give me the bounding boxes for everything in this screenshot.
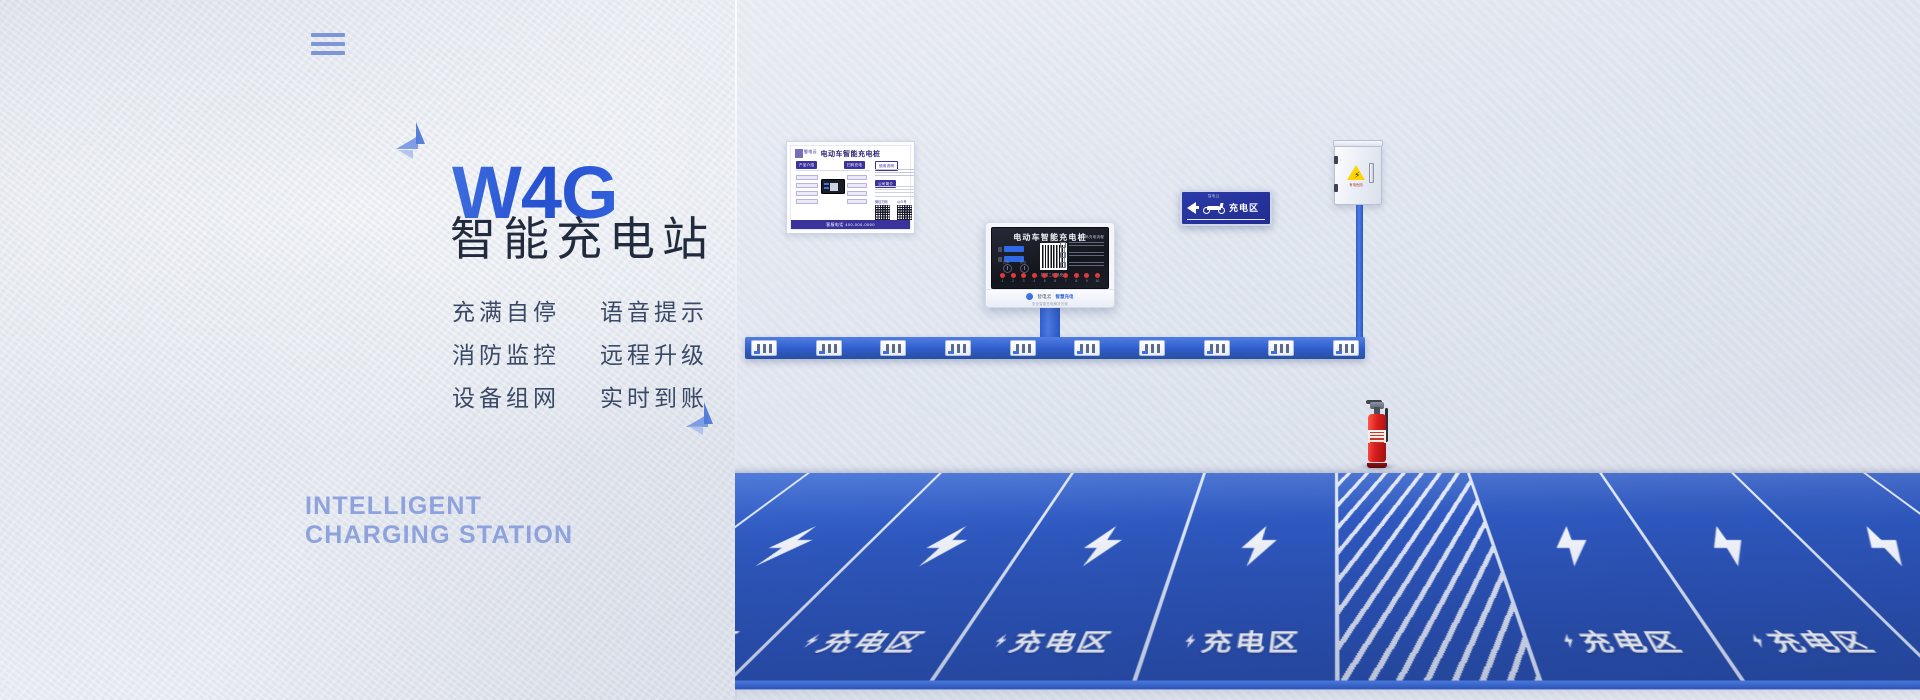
port-number: 3: [1021, 279, 1026, 283]
cabinet-hinge: [1334, 184, 1338, 192]
english-line-1: INTELLIGENT: [305, 492, 573, 521]
feature-row: 消防监控 远程升级: [452, 336, 708, 370]
port-indicator[interactable]: 4: [1032, 273, 1037, 283]
charging-pile-tagline: 安全智能充电解决方案: [986, 301, 1114, 306]
wall-socket[interactable]: [816, 340, 842, 356]
lightning-bolt-icon: [735, 526, 837, 566]
english-tagline: INTELLIGENT CHARGING STATION: [305, 492, 573, 550]
sign-underline: [1187, 219, 1265, 221]
feature-item: 消防监控: [452, 336, 600, 370]
lightning-bolt-icon: [1686, 526, 1775, 566]
wall-socket[interactable]: [1074, 340, 1100, 356]
cabinet-hinge: [1334, 156, 1338, 164]
lightning-bolt-icon: [898, 526, 987, 566]
poster-inner: 智电云 电动车智能充电桩 产品介绍 扫码充电 使用说明 公司简介 微信扫码 公众…: [790, 145, 911, 230]
port-indicator[interactable]: 5: [1042, 273, 1047, 283]
charging-pile-info-list: [1060, 242, 1104, 272]
feature-item: 语音提示: [600, 293, 708, 327]
charging-pile[interactable]: 电动车智能充电桩 扫描二维码充电 急停 复位 扫码充电流程 1 2: [985, 222, 1115, 308]
charging-pile-brand: 智电云 智慧充电: [986, 293, 1114, 300]
wall-socket-rail: [745, 337, 1365, 359]
charging-pile-info-header: 扫码充电流程: [1081, 235, 1104, 240]
parking-bay-label: 充电区: [1179, 625, 1302, 658]
cabinet-top: [1333, 140, 1383, 147]
poster-tag: 产品介绍: [796, 161, 817, 169]
port-number: 9: [1084, 279, 1089, 283]
extinguisher-label: [1368, 430, 1386, 443]
charging-pile-knobs[interactable]: [1003, 264, 1029, 273]
knob-label: 复位: [1020, 260, 1026, 264]
poster-flowchart-left: [796, 175, 818, 207]
charging-pile-base: 智电云 智慧充电 安全智能充电解决方案: [986, 289, 1114, 307]
port-number: 6: [1053, 279, 1058, 283]
port-number: 4: [1032, 279, 1037, 283]
port-indicator[interactable]: 6: [1053, 273, 1058, 283]
knob-label: 急停: [1003, 260, 1009, 264]
parking-bay-label: 充电区: [984, 625, 1118, 658]
cabinet-handle[interactable]: [1369, 163, 1374, 183]
port-number: 7: [1063, 279, 1068, 283]
page-subtitle: 智能充电站: [450, 212, 715, 267]
parking-bay-label: 充电区: [735, 625, 751, 658]
feature-item: 实时到账: [600, 379, 708, 413]
port-indicator[interactable]: 10: [1095, 273, 1100, 283]
reset-knob[interactable]: [1020, 264, 1029, 273]
wall-poster: 智电云 电动车智能充电桩 产品介绍 扫码充电 使用说明 公司简介 微信扫码 公众…: [786, 141, 915, 234]
wall-socket[interactable]: [945, 340, 971, 356]
poster-divider: [796, 170, 870, 171]
feature-item: 设备组网: [452, 379, 600, 413]
banner-stage: W4G 智能充电站 充满自停 语音提示 消防监控 远程升级 设备组网 实时到账 …: [0, 0, 1920, 700]
wall-socket[interactable]: [1204, 340, 1230, 356]
cabinet-power-conduit: [1356, 205, 1363, 350]
port-indicator[interactable]: 1: [1000, 273, 1005, 283]
bolt-marker-icon: [990, 633, 1011, 648]
port-indicator[interactable]: 7: [1063, 273, 1068, 283]
port-number: 1: [1000, 279, 1005, 283]
port-number: 5: [1042, 279, 1047, 283]
wall-socket[interactable]: [1010, 340, 1036, 356]
wall-socket[interactable]: [1268, 340, 1294, 356]
left-arrow-tail: [1193, 206, 1199, 209]
parking-bay-label: 充电区: [789, 625, 934, 658]
emergency-stop-knob[interactable]: [1003, 264, 1012, 273]
wall-socket[interactable]: [1139, 340, 1165, 356]
floor-plate: 充电区充电区充电区充电区充电区充电区充电区充电区充电区: [735, 473, 1920, 687]
lightning-bolt-icon: [1536, 526, 1612, 566]
bolt-marker-icon: [1559, 633, 1577, 648]
poster-tag: 扫码充电: [844, 161, 865, 169]
lightning-bolt-icon: [1836, 526, 1920, 566]
poster-footer: 客服电话 400-000-0000: [791, 220, 910, 229]
lightning-bolt-icon: [1062, 526, 1137, 566]
floor-front-edge: [735, 681, 1920, 690]
poster-title: 电动车智能充电桩: [791, 149, 910, 159]
parking-bay-label-text: 充电区: [735, 625, 751, 658]
bolt-glyph: ⚡: [1354, 171, 1360, 180]
parking-bay-label-text: 充电区: [809, 625, 935, 658]
parking-bay-label-text: 充电区: [1003, 625, 1118, 658]
port-indicator[interactable]: 8: [1074, 273, 1079, 283]
charging-pile-port-indicators: 1 2 3 4 5 6 7 8 9 10: [1000, 273, 1100, 283]
socket-list: [745, 337, 1365, 359]
cabinet-warning-label: 有电危险: [1343, 182, 1369, 187]
feature-item: 远程升级: [600, 336, 708, 370]
feature-list: 充满自停 语音提示 消防监控 远程升级 设备组网 实时到账: [452, 293, 708, 422]
poster-device-illustration: [821, 179, 845, 194]
parking-bay-label-text: 充电区: [1198, 625, 1302, 658]
poster-flowchart-right: [847, 175, 867, 207]
port-number: 10: [1095, 279, 1100, 283]
parking-bay-label: 充电区: [1556, 625, 1690, 658]
feature-row: 设备组网 实时到账: [452, 379, 708, 413]
parking-bay-label-text: 充电区: [1574, 625, 1690, 658]
brand-name: 智电云: [1037, 294, 1051, 300]
sign-logo-text: 智电云: [1208, 194, 1220, 199]
feature-item: 充满自停: [452, 293, 600, 327]
port-number: 8: [1074, 279, 1079, 283]
feature-row: 充满自停 语音提示: [452, 293, 708, 327]
poster-qr-code: [874, 204, 891, 221]
brand-logo-icon: [1026, 293, 1033, 300]
poster-body-lines: [875, 186, 915, 199]
wall-socket[interactable]: [1333, 340, 1359, 356]
scooter-icon: [1203, 202, 1225, 214]
headline-block: W4G 智能充电站 充满自停 语音提示 消防监控 远程升级 设备组网 实时到账 …: [0, 0, 735, 700]
parking-floor: 充电区充电区充电区充电区充电区充电区充电区充电区充电区: [735, 455, 1920, 700]
port-indicator[interactable]: 9: [1084, 273, 1089, 283]
direction-sign: 智电云 充电区: [1180, 190, 1272, 226]
brand-mark: 智慧充电: [1056, 294, 1074, 300]
poster-text-lines: [875, 169, 915, 178]
english-line-2: CHARGING STATION: [305, 521, 573, 550]
port-indicator[interactable]: 3: [1021, 273, 1026, 283]
bolt-marker-icon: [1182, 633, 1197, 648]
wall-socket[interactable]: [751, 340, 777, 356]
port-number: 2: [1011, 279, 1016, 283]
electrical-cabinet: ⚡ 有电危险: [1334, 143, 1382, 205]
sign-label: 充电区: [1229, 201, 1259, 214]
charging-pile-screen: 电动车智能充电桩 扫描二维码充电 急停 复位 扫码充电流程 1 2: [991, 227, 1109, 289]
lightning-bolt-icon: [1226, 526, 1287, 566]
parking-bay-label-text: 充电区: [1758, 625, 1885, 658]
sign-content: 充电区: [1182, 201, 1270, 214]
parking-bay-label: 充电区: [1739, 625, 1885, 658]
port-indicator[interactable]: 2: [1011, 273, 1016, 283]
wall-socket[interactable]: [880, 340, 906, 356]
poster-qr-code: [896, 204, 913, 221]
